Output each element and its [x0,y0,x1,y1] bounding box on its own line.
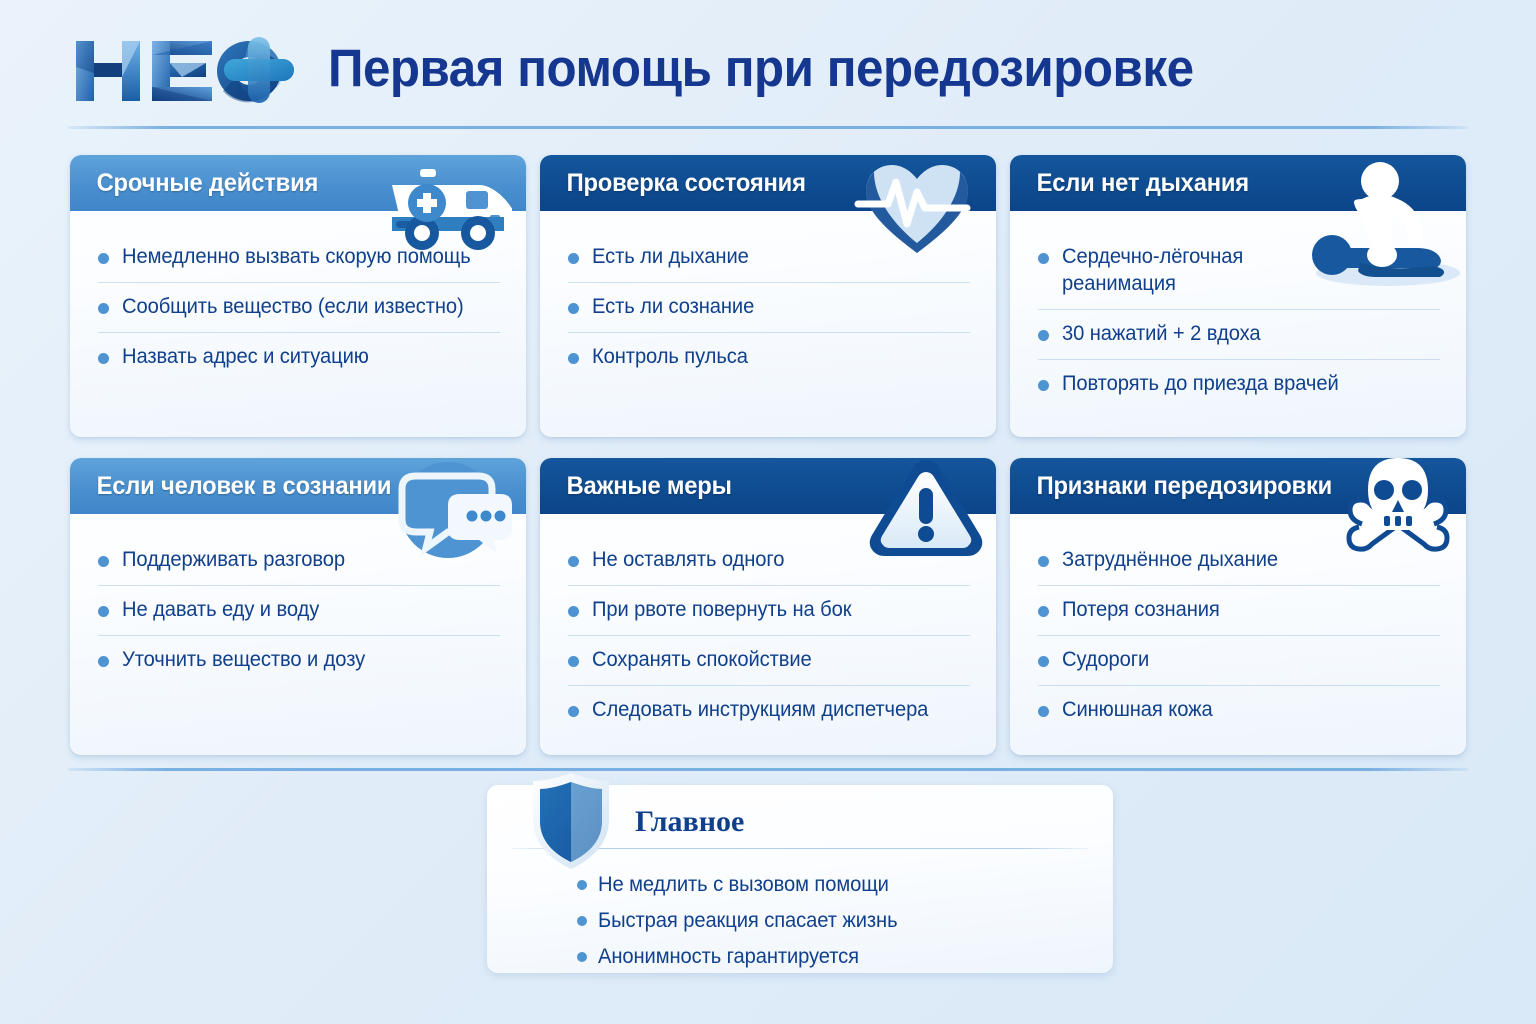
bullet-dot [98,556,109,567]
card-header: Если нет дыхания [1010,155,1466,211]
list-item: Уточнить вещество и дозу [98,636,500,685]
page-header: Первая помощь при передозировке [0,0,1536,132]
card-body: Поддерживать разговор Не давать еду и во… [70,514,526,695]
card-body: Затруднённое дыхание Потеря сознания Суд… [1010,514,1466,745]
bullet-dot [568,303,579,314]
list-item-label: Анонимность гарантируется [598,945,859,969]
list-item: Сообщить вещество (если известно) [98,283,500,333]
card-title: Если нет дыхания [1010,169,1249,198]
bullet-dot [1038,556,1049,567]
list-item-label: Затруднённое дыхание [1062,547,1278,574]
list-item: Судороги [1038,636,1440,686]
bullet-dot [98,253,109,264]
list-item-label: Назвать адрес и ситуацию [122,344,369,371]
bullet-dot [1038,606,1049,617]
bullet-dot [1038,706,1049,717]
bullet-dot [577,880,587,890]
bullet-dot [568,606,579,617]
list-item: Затруднённое дыхание [1038,536,1440,586]
list-item-label: Есть ли дыхание [592,244,749,271]
list-item-label: Сообщить вещество (если известно) [122,294,464,321]
card-header: Признаки передозировки [1010,458,1466,514]
list-item: Контроль пульса [568,333,970,382]
summary-title: Главное [635,805,744,839]
summary-panel[interactable]: Главное Не медлить с вызовом помощи Быст… [487,785,1113,973]
bullet-dot [1038,253,1049,264]
list-item-label: Не давать еду и воду [122,597,319,624]
card-urgent-actions[interactable]: Срочные действия [70,155,526,437]
bullet-dot [1038,656,1049,667]
list-item: Поддерживать разговор [98,536,500,586]
header-divider [68,126,1468,129]
card-body: Есть ли дыхание Есть ли сознание Контрол… [540,211,996,392]
list-item-label: Повторять до приезда врачей [1062,371,1339,398]
list-item: Потеря сознания [1038,586,1440,636]
list-item-label: Поддерживать разговор [122,547,345,574]
card-header: Проверка состояния [540,155,996,211]
list-item-label: Не оставлять одного [592,547,784,574]
card-header: Если человек в сознании [70,458,526,514]
list-item: Синюшная кожа [1038,686,1440,735]
list-item: Не оставлять одного [568,536,970,586]
card-important-measures[interactable]: Важные меры Не оставлять од [540,458,996,755]
card-condition-check[interactable]: Проверка состояния Есть ли дыхание Есть … [540,155,996,437]
list-item-label: Потеря сознания [1062,597,1220,624]
bullet-dot [568,253,579,264]
list-item-label: Синюшная кожа [1062,697,1213,724]
list-item-label: 30 нажатий + 2 вдоха [1062,321,1261,348]
list-item: Анонимность гарантируется [577,939,1077,975]
list-item: Следовать инструкциям диспетчера [568,686,970,735]
card-title: Признаки передозировки [1010,472,1332,501]
list-item: Не давать еду и воду [98,586,500,636]
list-item-label: Судороги [1062,647,1149,674]
card-header: Важные меры [540,458,996,514]
summary-list: Не медлить с вызовом помощи Быстрая реак… [577,867,1077,975]
bullet-dot [568,656,579,667]
list-item-label: Сохранять спокойствие [592,647,812,674]
list-item-label: Сердечно-лёгочная реанимация [1062,244,1302,298]
bullet-dot [568,706,579,717]
list-item: Есть ли дыхание [568,233,970,283]
bullet-dot [1038,380,1049,391]
card-grid: Срочные действия [70,155,1466,755]
card-body: Не оставлять одного При рвоте повернуть … [540,514,996,745]
bullet-dot [577,952,587,962]
list-item-label: Следовать инструкциям диспетчера [592,697,928,724]
bullet-dot [98,656,109,667]
list-item-label: При рвоте повернуть на бок [592,597,851,624]
bullet-dot [98,606,109,617]
list-item: Повторять до приезда врачей [1038,360,1440,409]
list-item-label: Не медлить с вызовом помощи [598,873,889,897]
list-item: Немедленно вызвать скорую помощь [98,233,500,283]
bullet-dot [98,353,109,364]
card-title: Срочные действия [70,169,318,198]
bullet-dot [1038,330,1049,341]
card-body: Сердечно-лёгочная реанимация 30 нажатий … [1010,211,1466,419]
list-item: Назвать адрес и ситуацию [98,333,500,382]
neo-plus-logo [72,33,297,109]
list-item: Сердечно-лёгочная реанимация [1038,233,1440,310]
list-item: Не медлить с вызовом помощи [577,867,1077,903]
bullet-dot [577,916,587,926]
list-item: При рвоте повернуть на бок [568,586,970,636]
card-header: Срочные действия [70,155,526,211]
footer-divider [68,768,1468,771]
card-person-conscious[interactable]: Если человек в сознании Поддерживать раз… [70,458,526,755]
list-item-label: Контроль пульса [592,344,748,371]
shield-icon [530,771,612,871]
card-title: Если человек в сознании [70,472,391,501]
list-item-label: Уточнить вещество и дозу [122,647,365,674]
bullet-dot [98,303,109,314]
card-overdose-signs[interactable]: Признаки передозировки [1010,458,1466,755]
bullet-dot [568,556,579,567]
bullet-dot [568,353,579,364]
card-title: Проверка состояния [540,169,806,198]
list-item: Есть ли сознание [568,283,970,333]
card-body: Немедленно вызвать скорую помощь Сообщит… [70,211,526,392]
page-title: Первая помощь при передозировке [328,38,1194,99]
list-item-label: Быстрая реакция спасает жизнь [598,909,897,933]
card-no-breathing[interactable]: Если нет дыхания Сердечн [1010,155,1466,437]
list-item: Сохранять спокойствие [568,636,970,686]
list-item-label: Немедленно вызвать скорую помощь [122,244,471,271]
list-item: Быстрая реакция спасает жизнь [577,903,1077,939]
list-item-label: Есть ли сознание [592,294,754,321]
list-item: 30 нажатий + 2 вдоха [1038,310,1440,360]
card-title: Важные меры [540,472,732,501]
